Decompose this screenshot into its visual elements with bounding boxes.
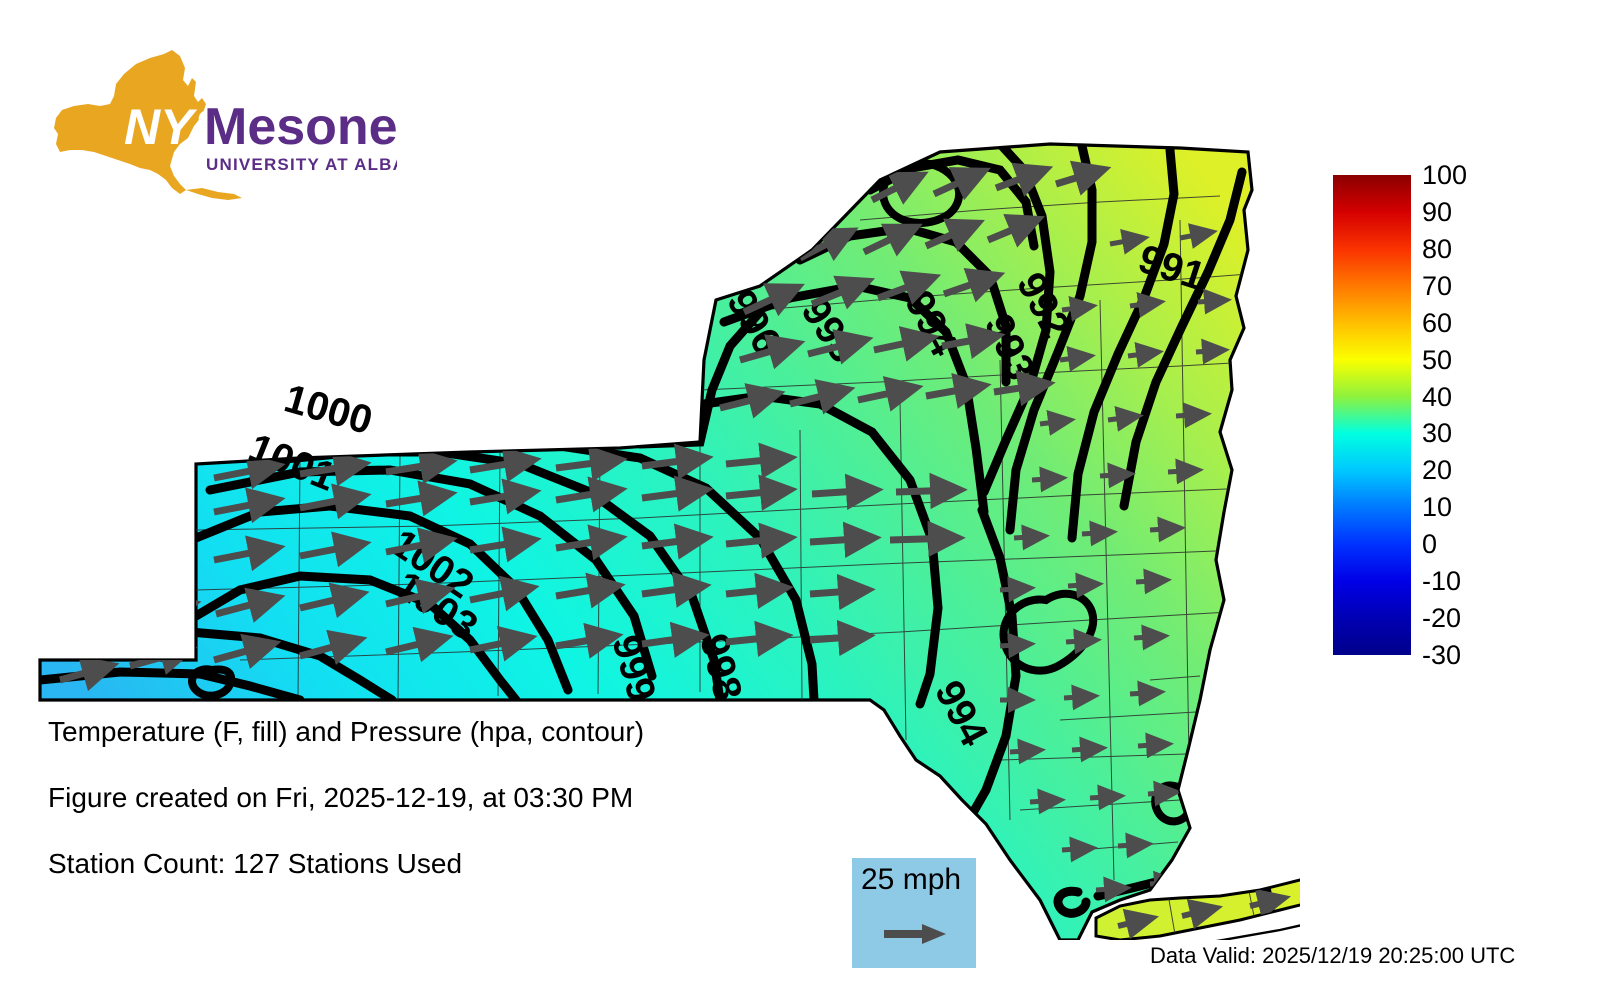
colorbar-tick--10: -10 xyxy=(1422,568,1461,595)
colorbar-tick-60: 60 xyxy=(1422,310,1452,337)
colorbar-tick--30: -30 xyxy=(1422,642,1461,669)
colorbar-tick-0: 0 xyxy=(1422,531,1437,558)
colorbar-tick-20: 20 xyxy=(1422,457,1452,484)
colorbar-tick-40: 40 xyxy=(1422,384,1452,411)
caption-station-count: Station Count: 127 Stations Used xyxy=(48,850,808,878)
colorbar-tick-90: 90 xyxy=(1422,199,1452,226)
figure-canvas: NYS Mesonet UNIVERSITY AT ALBANY xyxy=(0,0,1600,1000)
colorbar-tick-50: 50 xyxy=(1422,347,1452,374)
colorbar-tick--20: -20 xyxy=(1422,605,1461,632)
colorbar-gradient xyxy=(1333,175,1411,655)
contour-label-1000: 1000 xyxy=(280,376,378,443)
wind-scale-legend: 25 mph xyxy=(852,858,976,968)
caption-title: Temperature (F, fill) and Pressure (hpa,… xyxy=(48,718,808,746)
colorbar-tick-labels: 1009080706050403020100-10-20-30 xyxy=(1422,160,1542,680)
figure-caption: Temperature (F, fill) and Pressure (hpa,… xyxy=(48,718,808,916)
colorbar-tick-70: 70 xyxy=(1422,273,1452,300)
temperature-colorbar xyxy=(1333,175,1411,655)
colorbar-tick-10: 10 xyxy=(1422,494,1452,521)
wind-scale-arrow-icon xyxy=(882,920,948,948)
data-valid-timestamp: Data Valid: 2025/12/19 20:25:00 UTC xyxy=(1150,944,1515,968)
colorbar-tick-30: 30 xyxy=(1422,420,1452,447)
colorbar-tick-100: 100 xyxy=(1422,162,1467,189)
caption-created: Figure created on Fri, 2025-12-19, at 03… xyxy=(48,784,808,812)
wind-scale-label: 25 mph xyxy=(861,864,961,896)
colorbar-tick-80: 80 xyxy=(1422,236,1452,263)
